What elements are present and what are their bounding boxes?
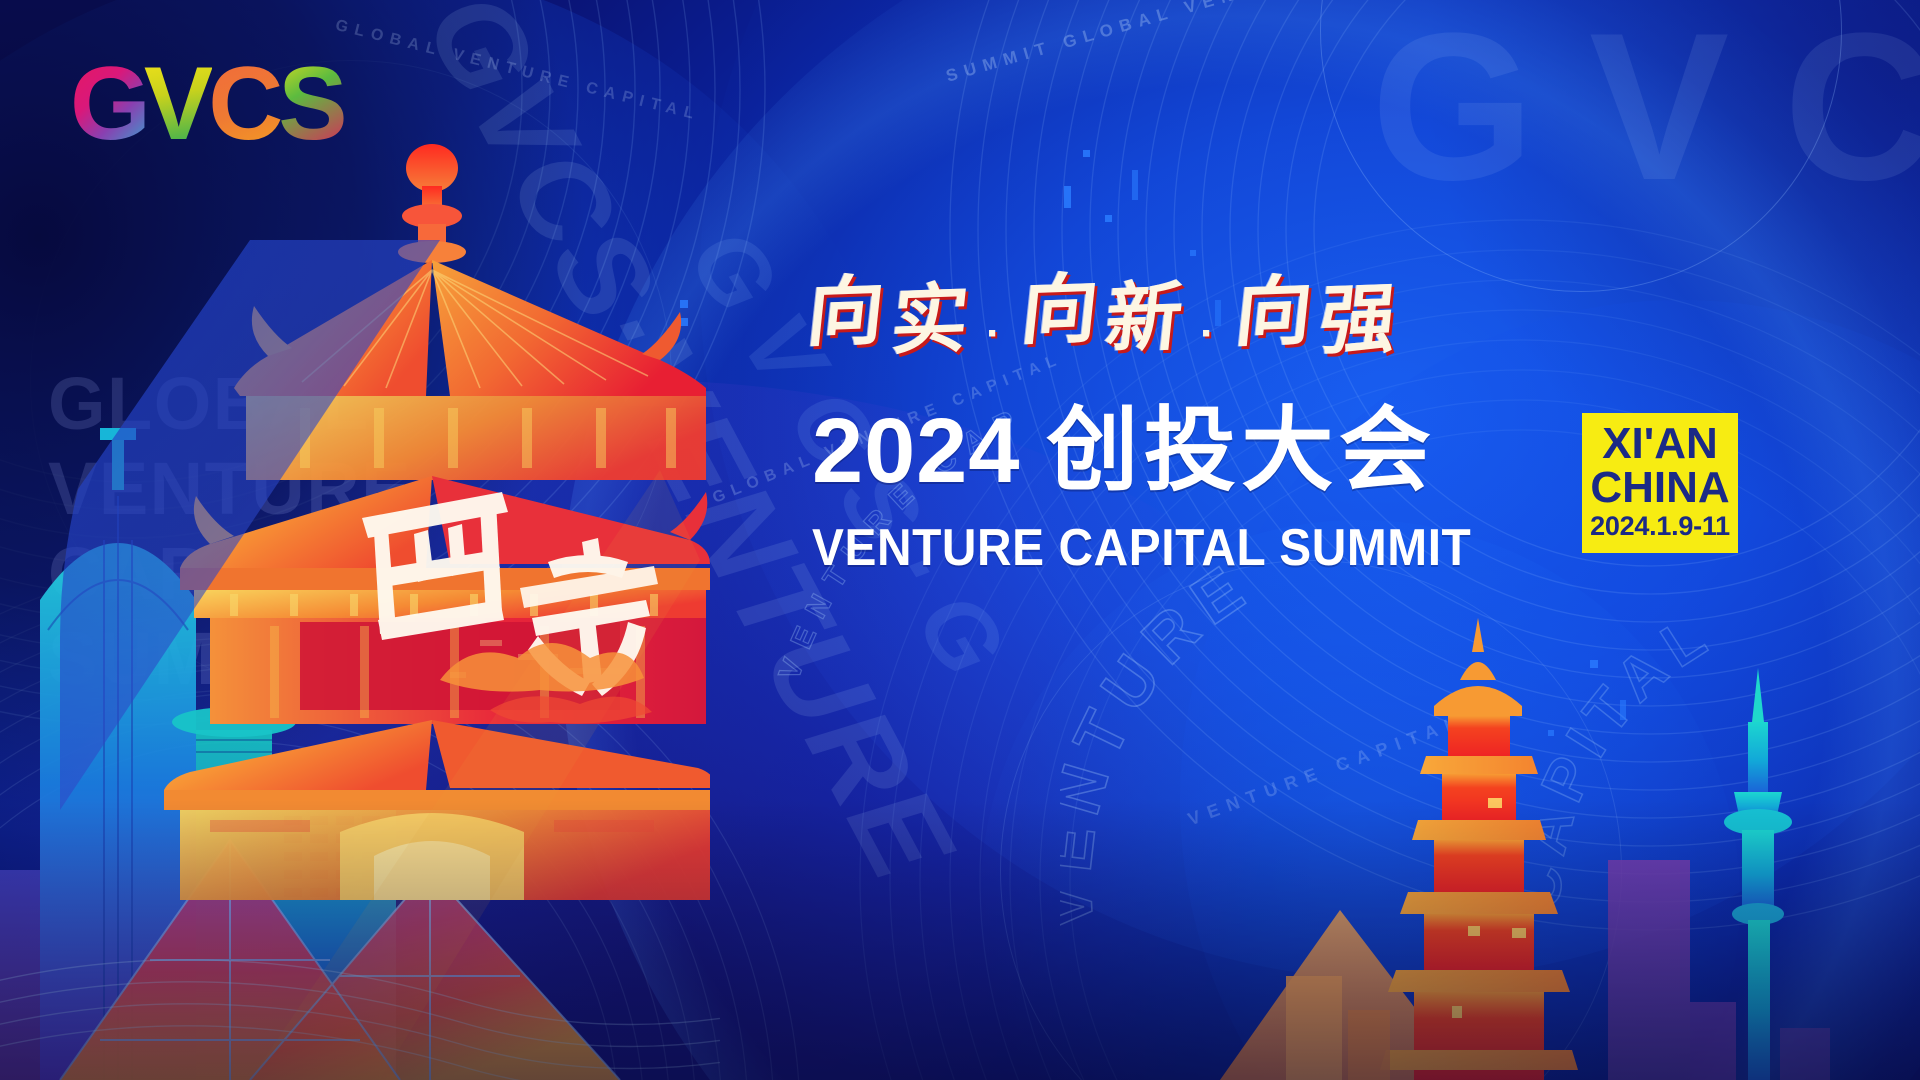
poster-canvas: GVCS·VENTURE GVCS·G GVC SUMMIT GLOBAL VE…: [0, 0, 1920, 1080]
background-bottom-shade: [0, 0, 1920, 1080]
